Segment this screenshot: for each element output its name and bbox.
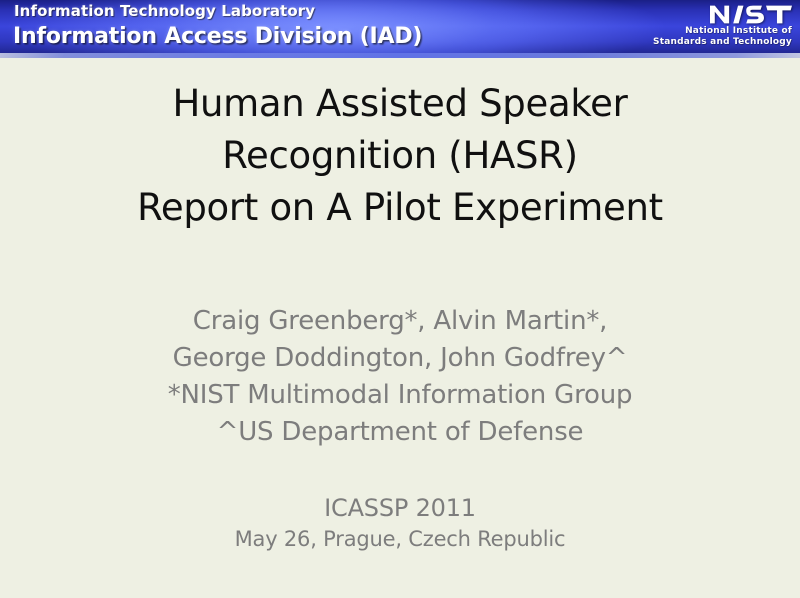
slide-title: Human Assisted Speaker Recognition (HASR…	[0, 78, 800, 234]
author-line-2: George Doddington, John Godfrey^	[0, 340, 800, 377]
title-line-2: Recognition (HASR)	[0, 130, 800, 182]
conference-name: ICASSP 2011	[0, 492, 800, 524]
slide-root: { "banner": { "lab_line": "Information T…	[0, 0, 800, 598]
affiliation-line-dod: ^US Department of Defense	[0, 414, 800, 451]
title-line-1: Human Assisted Speaker	[0, 78, 800, 130]
nist-sub-line-1: National Institute of	[653, 26, 792, 37]
nist-logo: National Institute of Standards and Tech…	[653, 3, 792, 48]
author-affiliation-block: Craig Greenberg*, Alvin Martin*, George …	[0, 303, 800, 451]
nist-sub-line-2: Standards and Technology	[653, 37, 792, 48]
nist-wordmark-icon	[710, 3, 792, 26]
venue-block: ICASSP 2011 May 26, Prague, Czech Republ…	[0, 492, 800, 554]
conference-location-date: May 26, Prague, Czech Republic	[0, 524, 800, 554]
banner-bottom-strip	[0, 53, 800, 58]
banner-lab-title: Information Technology Laboratory	[14, 2, 315, 20]
affiliation-line-nist: *NIST Multimodal Information Group	[0, 377, 800, 414]
author-line-1: Craig Greenberg*, Alvin Martin*,	[0, 303, 800, 340]
title-line-3: Report on A Pilot Experiment	[0, 182, 800, 234]
nist-itl-banner: Information Technology Laboratory Inform…	[0, 0, 800, 58]
banner-division-title: Information Access Division (IAD)	[13, 24, 422, 49]
